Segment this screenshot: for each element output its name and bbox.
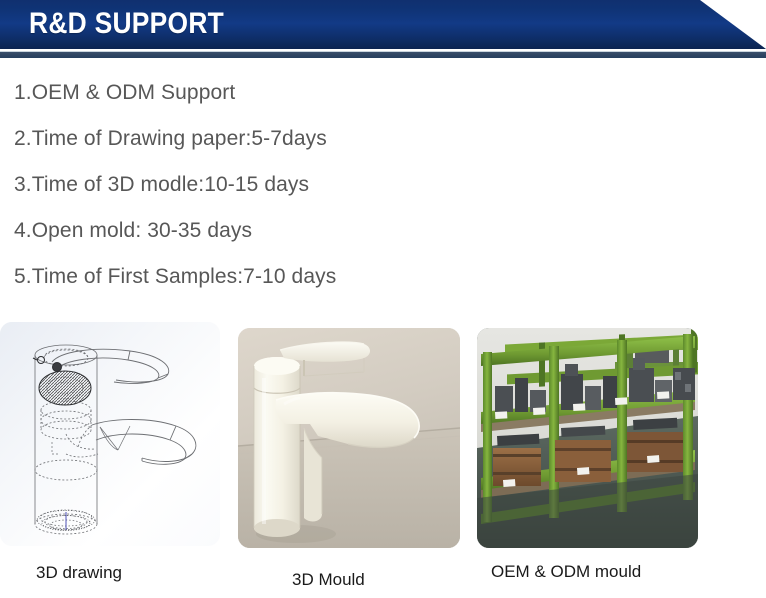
gallery-image-3d-mould [238, 328, 460, 548]
gallery-image-oem-mould [477, 328, 698, 548]
green-shelving-moulds-icon [477, 328, 698, 548]
gallery-caption-3d-mould: 3D Mould [292, 570, 365, 590]
banner-underbar [0, 52, 766, 58]
cad-wireframe-faucet-icon [0, 322, 220, 546]
rd-support-page: R&D SUPPORT 1.OEM & ODM Support 2.Time o… [0, 0, 766, 598]
page-title: R&D SUPPORT [29, 7, 224, 41]
white-printed-faucet-icon [238, 328, 460, 548]
header-banner: R&D SUPPORT [0, 0, 766, 58]
feature-item: 4.Open mold: 30-35 days [0, 208, 560, 254]
gallery-image-3d-drawing [0, 322, 220, 546]
feature-item: 5.Time of First Samples:7-10 days [0, 254, 560, 300]
gallery-caption-oem-mould: OEM & ODM mould [491, 562, 641, 582]
gallery-caption-3d-drawing: 3D drawing [36, 563, 122, 583]
feature-item: 3.Time of 3D modle:10-15 days [0, 162, 560, 208]
feature-item: 2.Time of Drawing paper:5-7days [0, 116, 560, 162]
feature-item: 1.OEM & ODM Support [0, 70, 560, 116]
feature-list: 1.OEM & ODM Support 2.Time of Drawing pa… [0, 70, 560, 300]
